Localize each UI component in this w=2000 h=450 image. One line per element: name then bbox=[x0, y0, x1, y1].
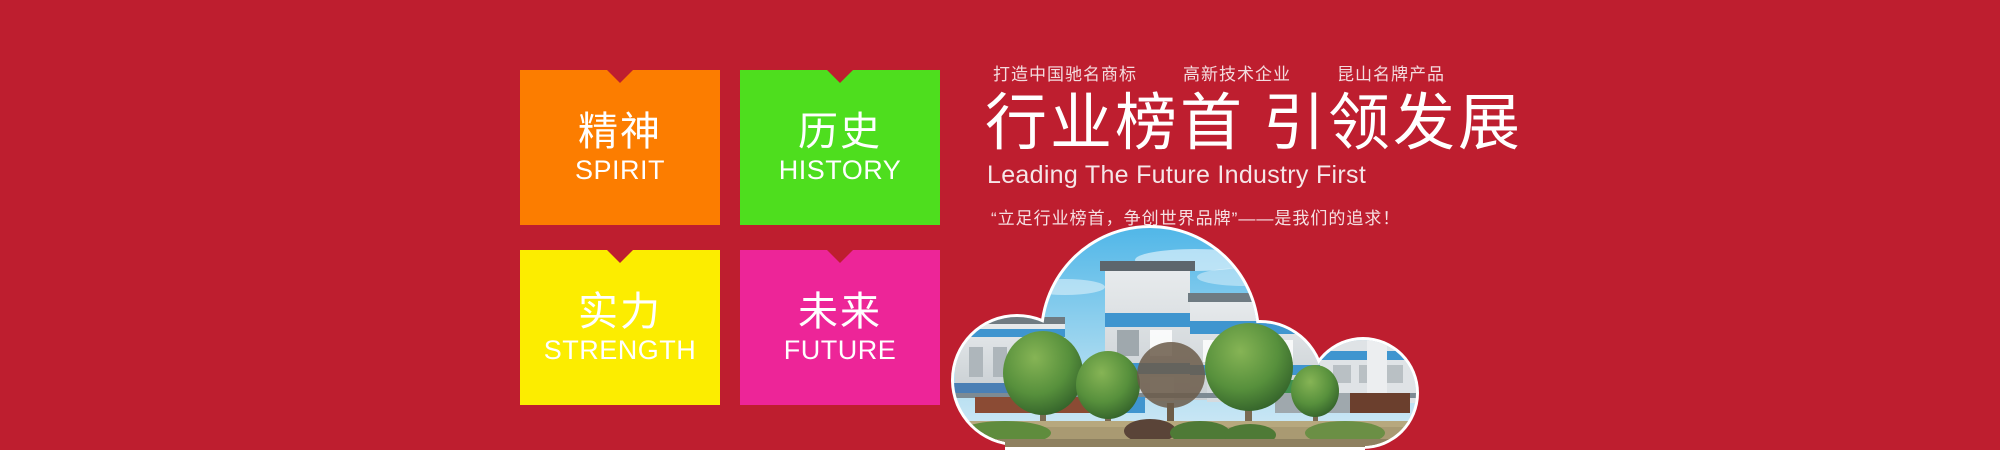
promo-banner: 精神 SPIRIT 历史 HISTORY 实力 STRENGTH 未来 FUTU… bbox=[0, 0, 2000, 450]
photo-content bbox=[945, 225, 1425, 450]
headline-part-1: 行业榜首 bbox=[985, 89, 1245, 158]
notch-icon bbox=[607, 250, 633, 263]
certification-item-1: 高新技术企业 bbox=[1183, 60, 1291, 85]
tile-spirit-cn-label: 精神 bbox=[578, 111, 662, 153]
tile-strength[interactable]: 实力 STRENGTH bbox=[520, 250, 720, 405]
tile-history-en-label: HISTORY bbox=[779, 156, 902, 184]
headline-subtitle: Leading The Future Industry First bbox=[987, 161, 1505, 190]
factory-photo-cloud bbox=[945, 225, 1425, 450]
tile-future-cn-label: 未来 bbox=[798, 291, 882, 333]
notch-icon bbox=[827, 250, 853, 263]
headline-part-2: 引领发展 bbox=[1263, 89, 1523, 158]
certification-row: 打造中国驰名商标 高新技术企业 昆山名牌产品 bbox=[993, 60, 1505, 85]
tile-future-en-label: FUTURE bbox=[784, 336, 897, 364]
tile-spirit[interactable]: 精神 SPIRIT bbox=[520, 70, 720, 225]
tile-history[interactable]: 历史 HISTORY bbox=[740, 70, 940, 225]
certification-item-2: 昆山名牌产品 bbox=[1337, 60, 1445, 85]
tile-future[interactable]: 未来 FUTURE bbox=[740, 250, 940, 405]
notch-icon bbox=[827, 70, 853, 83]
page-title: 行业榜首引领发展 bbox=[985, 93, 1505, 155]
notch-icon bbox=[607, 70, 633, 83]
certification-item-0: 打造中国驰名商标 bbox=[993, 60, 1137, 85]
tile-history-cn-label: 历史 bbox=[798, 111, 882, 153]
tile-strength-cn-label: 实力 bbox=[578, 291, 662, 333]
tile-spirit-en-label: SPIRIT bbox=[575, 156, 665, 184]
tile-strength-en-label: STRENGTH bbox=[544, 336, 697, 364]
headline-block: 打造中国驰名商标 高新技术企业 昆山名牌产品 行业榜首引领发展 Leading … bbox=[985, 60, 1505, 229]
